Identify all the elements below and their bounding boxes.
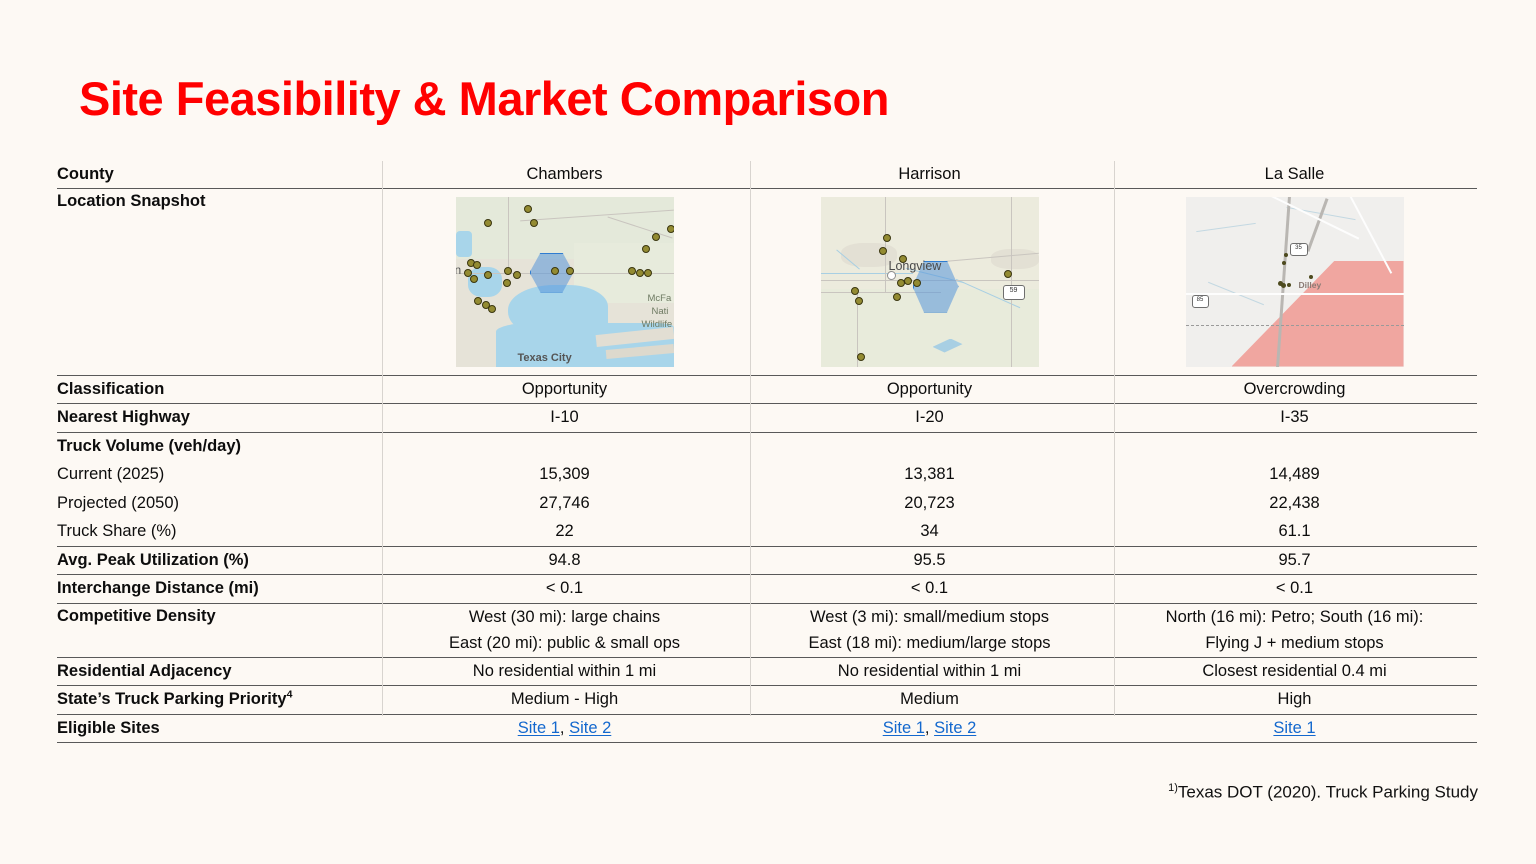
slide-canvas: Site Feasibility & Market Comparison Cou… — [0, 0, 1536, 864]
column-header-lasalle: La Salle — [1112, 161, 1477, 188]
column-header-chambers: Chambers — [382, 161, 747, 188]
cell-density-lasalle: North (16 mi): Petro; South (16 mi): Fly… — [1112, 603, 1477, 657]
row-label-county: County — [57, 161, 382, 188]
cell-classification-lasalle: Overcrowding — [1112, 375, 1477, 404]
site-link[interactable]: Site 1 — [518, 719, 560, 737]
highway-shield-35: 35 — [1290, 243, 1308, 256]
row-label-classification: Classification — [57, 375, 382, 404]
highway-shield-59: 59 — [1003, 285, 1025, 300]
map-cell-chambers: McFa Nati Wildlife Texas City n — [382, 188, 747, 375]
density-line1: North (16 mi): Petro; South (16 mi): — [1112, 604, 1477, 630]
footnote-marker: 1) — [1168, 782, 1178, 794]
table-header-row: County Chambers Harrison La Salle — [57, 161, 1477, 188]
table-row-residential-adjacency: Residential Adjacency No residential wit… — [57, 657, 1477, 686]
highway-shield-label: 59 — [1010, 287, 1018, 294]
row-label-residential-adjacency: Residential Adjacency — [57, 657, 382, 686]
cell-truck-volume-harrison — [747, 432, 1112, 461]
column-divider-2 — [750, 161, 751, 716]
table-row-current-2025: Current (2025) 15,309 13,381 14,489 — [57, 461, 1477, 490]
row-label-avg-peak-utilization: Avg. Peak Utilization (%) — [57, 546, 382, 575]
map-label-dilley: Dilley — [1299, 280, 1322, 290]
cell-highway-lasalle: I-35 — [1112, 404, 1477, 433]
map-label-partial-n: n — [456, 263, 462, 277]
cell-residential-chambers: No residential within 1 mi — [382, 657, 747, 686]
cell-truck-volume-lasalle — [1112, 432, 1477, 461]
row-label-nearest-highway: Nearest Highway — [57, 404, 382, 433]
comparison-table: County Chambers Harrison La Salle Locati… — [57, 161, 1477, 743]
cell-current-harrison: 13,381 — [747, 461, 1112, 490]
cell-highway-harrison: I-20 — [747, 404, 1112, 433]
highway-shield-85: 85 — [1192, 295, 1209, 308]
cell-density-chambers: West (30 mi): large chains East (20 mi):… — [382, 603, 747, 657]
footnote-text: Texas DOT (2020). Truck Parking Study — [1178, 783, 1478, 802]
chambers-map: McFa Nati Wildlife Texas City n — [456, 197, 674, 367]
cell-truck-volume-chambers — [382, 432, 747, 461]
density-line2: Flying J + medium stops — [1112, 630, 1477, 656]
map-label-mcfaddin: McFa — [648, 293, 672, 304]
table-row-nearest-highway: Nearest Highway I-10 I-20 I-35 — [57, 404, 1477, 433]
cell-density-harrison: West (3 mi): small/medium stops East (18… — [747, 603, 1112, 657]
row-label-parking-priority: State’s Truck Parking Priority4 — [57, 686, 382, 715]
cell-residential-harrison: No residential within 1 mi — [747, 657, 1112, 686]
map-cell-lasalle: Dilley 35 85 — [1112, 188, 1477, 375]
cell-interchange-harrison: < 0.1 — [747, 575, 1112, 604]
cell-projected-lasalle: 22,438 — [1112, 489, 1477, 518]
cell-projected-chambers: 27,746 — [382, 489, 747, 518]
harrison-map: Longview 59 — [821, 197, 1039, 367]
table-row-location-snapshot: Location Snapshot — [57, 188, 1477, 375]
row-label-competitive-density: Competitive Density — [57, 603, 382, 657]
cell-utilization-lasalle: 95.7 — [1112, 546, 1477, 575]
row-label-location-snapshot: Location Snapshot — [57, 188, 382, 375]
map-label-longview: Longview — [889, 259, 942, 273]
row-label-projected-2050: Projected (2050) — [57, 489, 382, 518]
cell-truck-share-harrison: 34 — [747, 518, 1112, 547]
table-row-projected-2050: Projected (2050) 27,746 20,723 22,438 — [57, 489, 1477, 518]
row-label-truck-volume: Truck Volume (veh/day) — [57, 432, 382, 461]
density-line1: West (30 mi): large chains — [382, 604, 747, 630]
cell-projected-harrison: 20,723 — [747, 489, 1112, 518]
row-label-current-2025: Current (2025) — [57, 461, 382, 490]
site-link[interactable]: Site 2 — [569, 719, 611, 737]
footnote-ref: 4 — [287, 689, 293, 701]
cell-utilization-chambers: 94.8 — [382, 546, 747, 575]
cell-classification-chambers: Opportunity — [382, 375, 747, 404]
site-link[interactable]: Site 1 — [883, 719, 925, 737]
column-divider-3 — [1114, 161, 1115, 716]
cell-interchange-lasalle: < 0.1 — [1112, 575, 1477, 604]
cell-sites-harrison: Site 1, Site 2 — [747, 714, 1112, 743]
cell-highway-chambers: I-10 — [382, 404, 747, 433]
table-row-eligible-sites: Eligible Sites Site 1, Site 2 Site 1, Si… — [57, 714, 1477, 743]
cell-current-chambers: 15,309 — [382, 461, 747, 490]
density-line2: East (18 mi): medium/large stops — [747, 630, 1112, 656]
density-line2: East (20 mi): public & small ops — [382, 630, 747, 656]
table-row-truck-volume-group: Truck Volume (veh/day) — [57, 432, 1477, 461]
cell-current-lasalle: 14,489 — [1112, 461, 1477, 490]
cell-residential-lasalle: Closest residential 0.4 mi — [1112, 657, 1477, 686]
table-row-avg-peak-utilization: Avg. Peak Utilization (%) 94.8 95.5 95.7 — [57, 546, 1477, 575]
link-separator: , — [560, 719, 569, 737]
map-label-wildlife: Wildlife — [642, 319, 673, 330]
row-label-interchange-distance: Interchange Distance (mi) — [57, 575, 382, 604]
row-label-truck-share: Truck Share (%) — [57, 518, 382, 547]
footnote: 1)Texas DOT (2020). Truck Parking Study — [1168, 782, 1478, 803]
cell-priority-harrison: Medium — [747, 686, 1112, 715]
cell-truck-share-chambers: 22 — [382, 518, 747, 547]
la-salle-map: Dilley 35 85 — [1186, 197, 1404, 367]
map-cell-harrison: Longview 59 — [747, 188, 1112, 375]
cell-utilization-harrison: 95.5 — [747, 546, 1112, 575]
column-divider-1 — [382, 161, 383, 716]
column-header-harrison: Harrison — [747, 161, 1112, 188]
highway-shield-label: 35 — [1295, 245, 1302, 251]
table-row-interchange-distance: Interchange Distance (mi) < 0.1 < 0.1 < … — [57, 575, 1477, 604]
cell-priority-chambers: Medium - High — [382, 686, 747, 715]
site-link[interactable]: Site 2 — [934, 719, 976, 737]
table-row-classification: Classification Opportunity Opportunity O… — [57, 375, 1477, 404]
cell-sites-lasalle: Site 1 — [1112, 714, 1477, 743]
table-row-truck-share: Truck Share (%) 22 34 61.1 — [57, 518, 1477, 547]
row-label-eligible-sites: Eligible Sites — [57, 714, 382, 743]
row-label-text: State’s Truck Parking Priority — [57, 690, 287, 708]
table-row-parking-priority: State’s Truck Parking Priority4 Medium -… — [57, 686, 1477, 715]
table-row-competitive-density: Competitive Density West (30 mi): large … — [57, 603, 1477, 657]
site-link[interactable]: Site 1 — [1273, 719, 1315, 737]
page-title: Site Feasibility & Market Comparison — [79, 69, 889, 129]
cell-sites-chambers: Site 1, Site 2 — [382, 714, 747, 743]
cell-classification-harrison: Opportunity — [747, 375, 1112, 404]
map-label-texas-city: Texas City — [518, 352, 572, 364]
highway-shield-label: 85 — [1197, 297, 1204, 303]
link-separator: , — [925, 719, 934, 737]
cell-truck-share-lasalle: 61.1 — [1112, 518, 1477, 547]
density-line1: West (3 mi): small/medium stops — [747, 604, 1112, 630]
map-label-national: Nati — [652, 306, 669, 317]
cell-interchange-chambers: < 0.1 — [382, 575, 747, 604]
cell-priority-lasalle: High — [1112, 686, 1477, 715]
